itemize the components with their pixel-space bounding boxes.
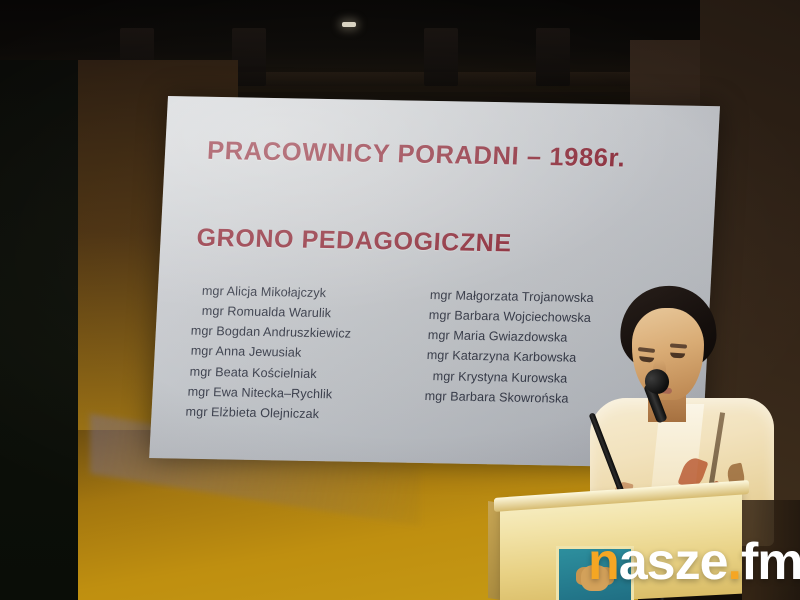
list-item: mgr Elżbieta Olejniczak: [181, 402, 410, 425]
watermark-dot: .: [728, 533, 741, 591]
stage-curtain-left: [0, 60, 90, 600]
watermark-body: asze: [619, 533, 728, 591]
slide-title: PRACOWNICY PORADNI – 1986r.: [206, 137, 626, 174]
watermark-prefix: n: [588, 533, 619, 591]
watermark-suffix: fm: [741, 533, 800, 591]
presentation-photo: PRACOWNICY PORADNI – 1986r. GRONO PEDAGO…: [0, 0, 800, 600]
stage-light-fixture: [424, 28, 458, 86]
stage-light-fixture: [536, 28, 570, 86]
name-column-left: mgr Alicja Mikołajczyk mgr Romualda Waru…: [181, 282, 416, 426]
spotlight-glow: [342, 22, 356, 27]
slide-subtitle: GRONO PEDAGOGICZNE: [196, 224, 513, 259]
watermark-logo: nasze.fm: [588, 536, 800, 588]
